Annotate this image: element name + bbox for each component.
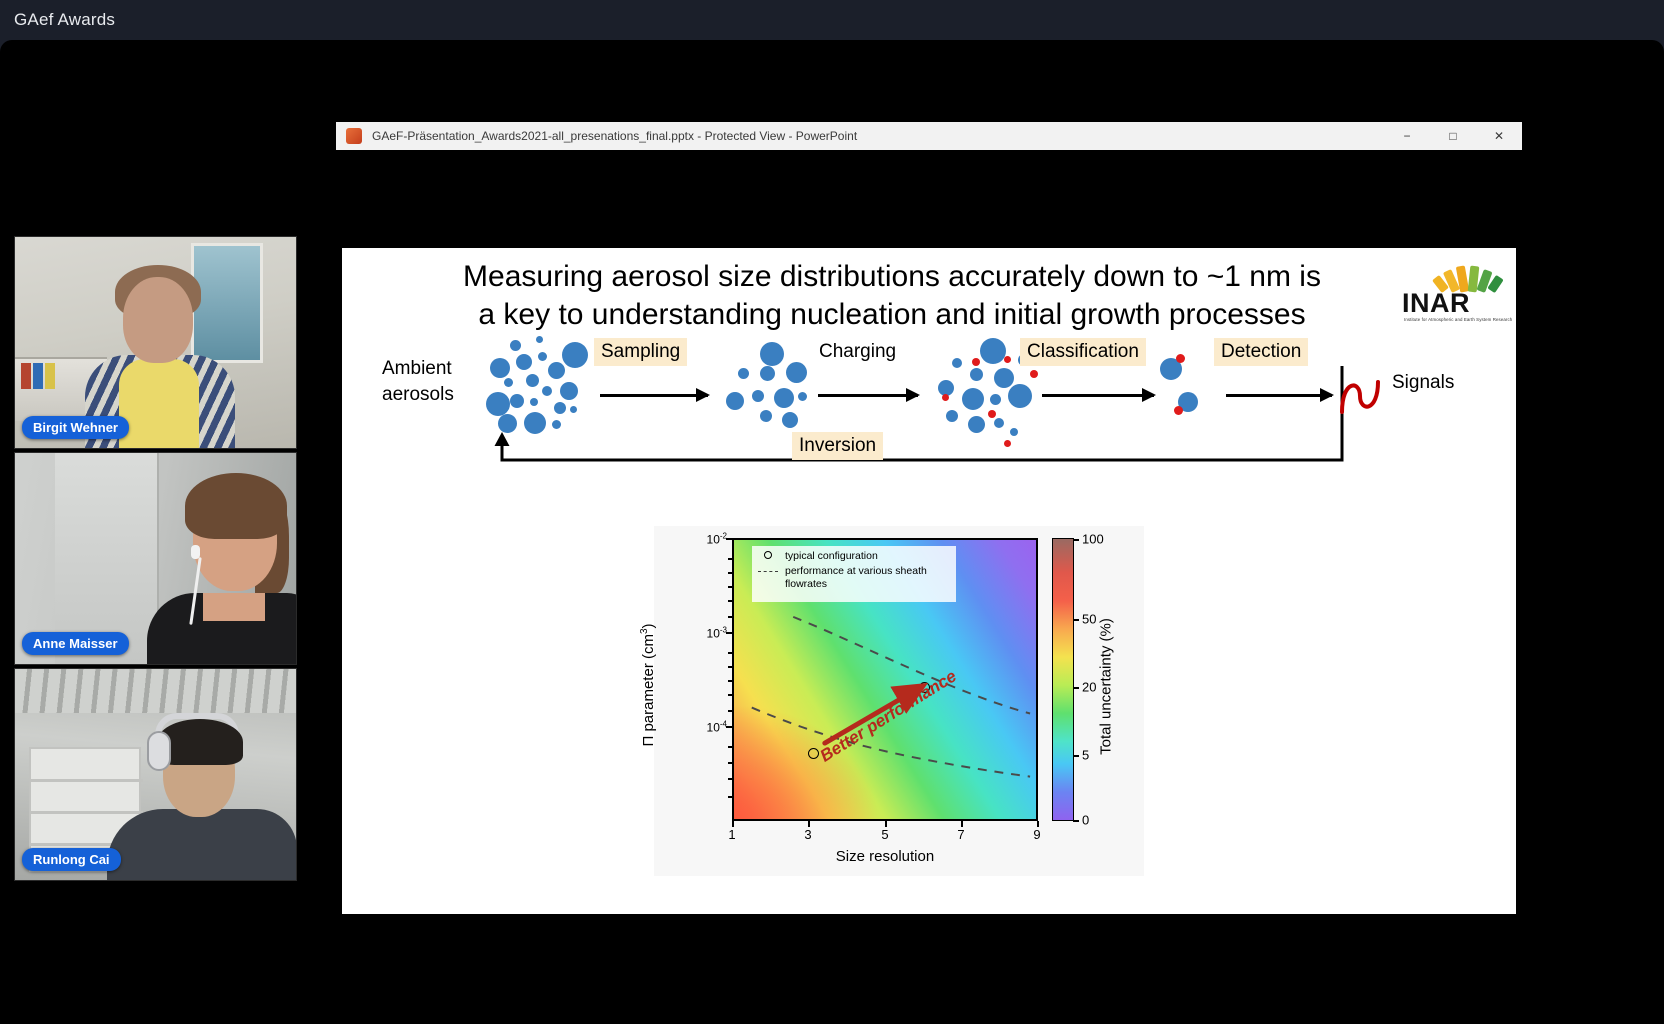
step-label-sampling: Sampling <box>594 338 687 366</box>
colorbar-tick-label: 50 <box>1082 612 1096 627</box>
ambient-aerosols-label-line1: Ambient <box>382 358 452 380</box>
background-window <box>191 243 263 363</box>
meeting-title: GAef Awards <box>14 10 115 29</box>
process-diagram: Ambient aerosols <box>342 336 1516 496</box>
participant-name-badge: Birgit Wehner <box>22 416 129 439</box>
participant-name-badge: Anne Maisser <box>22 632 129 655</box>
maximize-button[interactable]: □ <box>1430 122 1476 150</box>
person-body <box>107 809 297 881</box>
participant-filmstrip: Birgit Wehner Anne Maisser <box>14 236 297 884</box>
uncertainty-heatmap-figure: typical configuration performance at var… <box>654 526 1144 876</box>
person-hair <box>185 473 287 539</box>
powerpoint-title: GAeF-Präsentation_Awards2021-all_presena… <box>372 129 857 143</box>
y-tick-label: 10-3 <box>707 626 727 641</box>
colorbar-tick-label: 20 <box>1082 680 1096 695</box>
y-axis-label: Π parameter (cm3) <box>639 623 657 746</box>
colorbar: 100 50 20 5 0 <box>1052 538 1074 821</box>
step-label-detection: Detection <box>1214 338 1308 366</box>
aerosol-cloud-ambient <box>482 336 592 446</box>
slide-title-line-2: a key to understanding nucleation and in… <box>412 296 1372 334</box>
step-label-inversion: Inversion <box>792 432 883 460</box>
colorbar-tick-label: 100 <box>1082 532 1104 547</box>
background-book <box>33 363 43 389</box>
aerosol-cloud-classified <box>1160 354 1214 424</box>
arrow-detection <box>1226 394 1332 397</box>
signal-waveform-icon <box>1338 372 1382 418</box>
powerpoint-icon <box>346 128 362 144</box>
participant-tile[interactable]: Runlong Cai <box>14 668 297 881</box>
participant-tile[interactable]: Birgit Wehner <box>14 236 297 449</box>
inar-logo-word: INAR <box>1402 288 1470 319</box>
x-tick-label: 1 <box>728 827 735 842</box>
x-tick-label: 9 <box>1033 827 1040 842</box>
arrow-sampling <box>600 394 708 397</box>
headphone-icon <box>147 731 171 771</box>
plot-area: typical configuration performance at var… <box>732 538 1038 821</box>
person-neck <box>203 593 265 621</box>
meeting-window: GAef Awards Birgit Wehner <box>0 0 1664 1024</box>
ambient-aerosols-label-line2: aerosols <box>382 384 454 406</box>
participant-tile[interactable]: Anne Maisser <box>14 452 297 665</box>
inar-logo-subtitle: Institute for Atmospheric and Earth Syst… <box>1404 317 1512 322</box>
meeting-title-bar: GAef Awards <box>0 0 1664 40</box>
powerpoint-title-bar[interactable]: GAeF-Präsentation_Awards2021-all_presena… <box>336 122 1522 150</box>
window-controls: − □ ✕ <box>1384 122 1522 150</box>
y-tick-label: 10-2 <box>707 532 727 547</box>
minimize-button[interactable]: − <box>1384 122 1430 150</box>
person-shirt <box>119 359 199 449</box>
step-label-charging: Charging <box>812 338 903 366</box>
signals-label: Signals <box>1392 372 1454 394</box>
background-book <box>21 363 31 389</box>
close-button[interactable]: ✕ <box>1476 122 1522 150</box>
slide-canvas: Measuring aerosol size distributions acc… <box>342 248 1516 914</box>
x-tick-label: 7 <box>957 827 964 842</box>
inar-logo: INAR Institute for Atmospheric and Earth… <box>1402 262 1504 328</box>
background-book <box>45 363 55 389</box>
arrow-classification <box>1042 394 1154 397</box>
x-tick-label: 3 <box>804 827 811 842</box>
arrow-charging <box>818 394 918 397</box>
y-tick-label: 10-4 <box>707 720 727 735</box>
x-tick-label: 5 <box>881 827 888 842</box>
background-ceiling <box>15 669 297 713</box>
slide-title-line-1: Measuring aerosol size distributions acc… <box>412 258 1372 296</box>
colorbar-tick-label: 5 <box>1082 748 1089 763</box>
colorbar-label: Total uncertainty (%) <box>1098 618 1115 755</box>
better-performance-arrow-icon <box>734 540 1036 819</box>
slide-title: Measuring aerosol size distributions acc… <box>412 258 1372 335</box>
aerosol-cloud-sampled <box>726 342 818 432</box>
person-head <box>123 277 193 363</box>
powerpoint-body: Measuring aerosol size distributions acc… <box>336 150 1522 914</box>
participant-name-badge: Runlong Cai <box>22 848 121 871</box>
step-label-classification: Classification <box>1020 338 1146 366</box>
shared-screen-powerpoint-window: GAeF-Präsentation_Awards2021-all_presena… <box>336 122 1522 914</box>
colorbar-tick-label: 0 <box>1082 813 1089 828</box>
x-axis-label: Size resolution <box>732 848 1038 865</box>
